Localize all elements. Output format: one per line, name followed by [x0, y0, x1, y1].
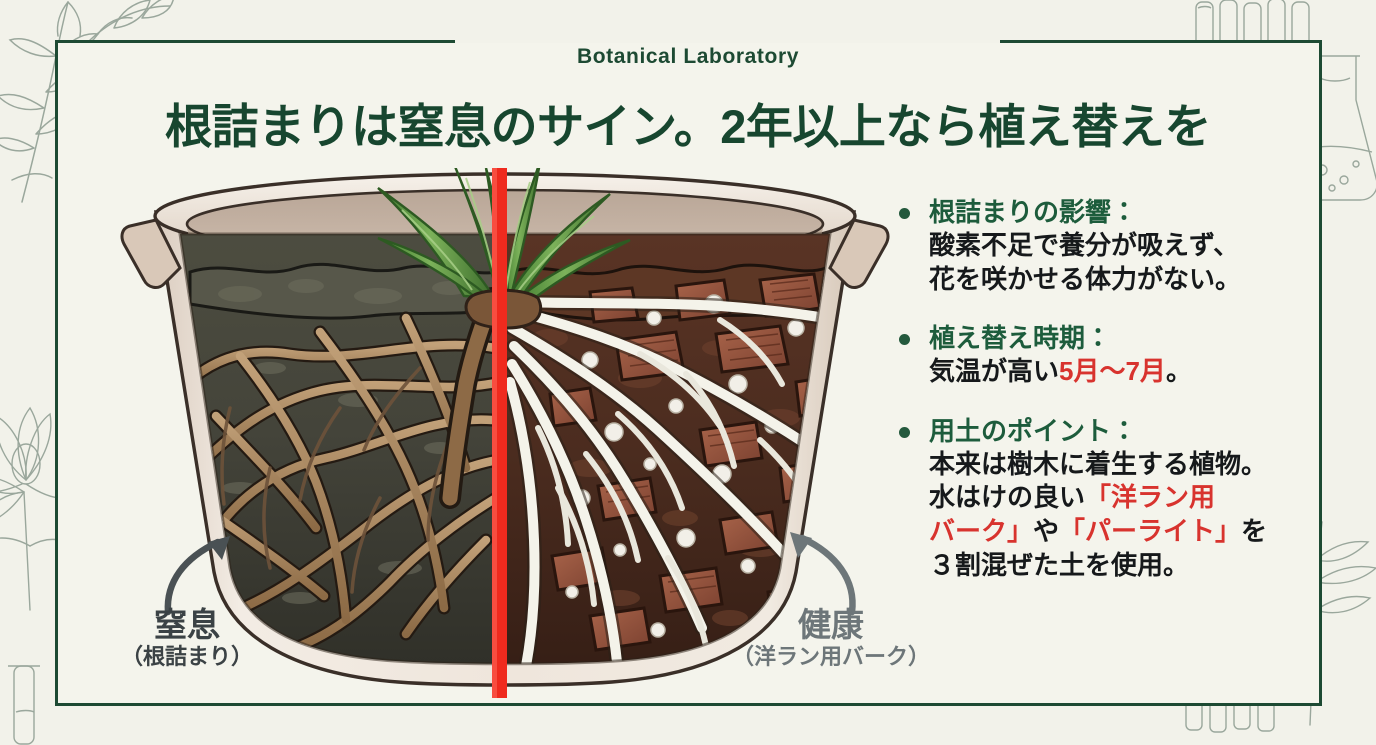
caption-root-bound: 窒息 （根詰まり） [92, 606, 282, 670]
bullet-body-line: 酸素不足で養分が吸えず、 [896, 229, 1320, 263]
bullet-item: 用土のポイント：本来は樹木に着生する植物。水はけの良い「洋ラン用バーク」や「パー… [896, 415, 1320, 583]
body-text: 酸素不足で養分が吸えず、 [929, 230, 1239, 260]
bullet-list: 根詰まりの影響：酸素不足で養分が吸えず、花を咲かせる体力がない。植え替え時期：気… [896, 196, 1320, 583]
body-text: 本来は樹木に着生する植物。 [929, 449, 1267, 479]
page-title: 根詰まりは窒息のサイン。2年以上なら植え替えを [0, 88, 1376, 157]
body-text: や [1033, 516, 1059, 546]
bullet-body-line: ３割混ぜた土を使用。 [896, 549, 1320, 583]
frame-border-top-right [1000, 40, 1322, 43]
highlighted-term: 5月〜7月 [1059, 356, 1166, 386]
body-text: ３割混ぜた土を使用。 [929, 550, 1189, 580]
body-text: を [1241, 516, 1267, 546]
bullet-item: 根詰まりの影響：酸素不足で養分が吸えず、花を咲かせる体力がない。 [896, 196, 1320, 296]
body-text: 。 [1166, 356, 1192, 386]
caption-right-subtitle: （洋ラン用バーク） [706, 644, 956, 670]
body-text: 水はけの良い [929, 482, 1085, 512]
bullet-item: 植え替え時期：気温が高い5月〜7月。 [896, 322, 1320, 389]
caption-healthy: 健康 （洋ラン用バーク） [706, 606, 956, 670]
bullet-body-line: 水はけの良い「洋ラン用 [896, 481, 1320, 515]
test-tube-line-art [0, 660, 62, 745]
bullet-body-line: 花を咲かせる体力がない。 [896, 263, 1320, 297]
kicker-label: Botanical Laboratory [0, 45, 1376, 69]
highlighted-term: 「洋ラン用 [1085, 482, 1215, 512]
body-text: 気温が高い [929, 356, 1059, 386]
bullet-heading: 根詰まりの影響： [896, 196, 1320, 229]
body-text: 花を咲かせる体力がない。 [929, 264, 1241, 294]
bullet-dot-icon [899, 427, 910, 438]
bullet-body-line: バーク」や「パーライト」を [896, 515, 1320, 549]
bullet-body-line: 気温が高い5月〜7月。 [896, 355, 1320, 389]
bullet-dot-icon [899, 208, 910, 219]
caption-left-subtitle: （根詰まり） [92, 644, 282, 670]
bullet-heading: 植え替え時期： [896, 322, 1320, 355]
infographic-canvas: Botanical Laboratory 根詰まりは窒息のサイン。2年以上なら植… [0, 0, 1376, 745]
frame-border-top-left [55, 40, 455, 43]
bullet-body-line: 本来は樹木に着生する植物。 [896, 448, 1320, 482]
caption-right-title: 健康 [706, 606, 956, 644]
caption-left-title: 窒息 [92, 606, 282, 644]
highlighted-term: バーク」 [929, 516, 1033, 546]
highlighted-term: 「パーライト」 [1059, 516, 1241, 546]
bullet-heading: 用土のポイント： [896, 415, 1320, 448]
frame-border-bottom [55, 703, 1322, 706]
